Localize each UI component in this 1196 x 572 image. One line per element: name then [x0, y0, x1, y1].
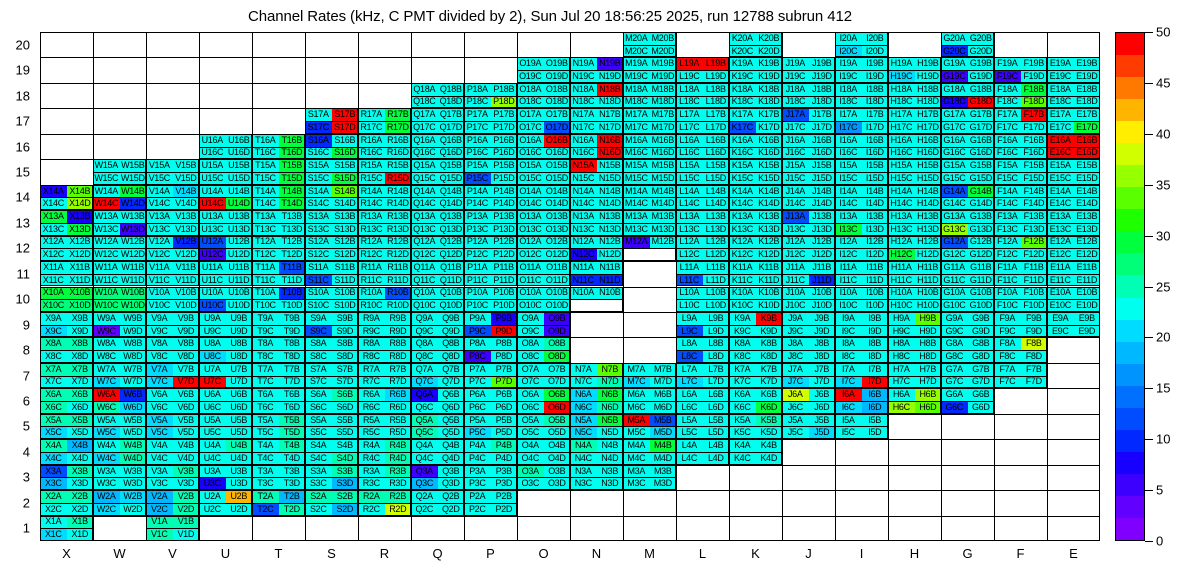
- palette-tick-35: [1145, 185, 1153, 186]
- x-axis-label-E: E: [1054, 546, 1094, 561]
- palette-band-15: [1116, 187, 1144, 210]
- x-axis-label-N: N: [577, 546, 617, 561]
- x-axis-label-I: I: [842, 546, 882, 561]
- palette-band-14: [1116, 209, 1144, 232]
- x-axis-label-R: R: [365, 546, 405, 561]
- x-axis-label-M: M: [630, 546, 670, 561]
- x-axis-label-F: F: [1001, 546, 1041, 561]
- palette-band-9: [1116, 319, 1144, 342]
- x-axis-label-P: P: [471, 546, 511, 561]
- palette-label-10: 10: [1156, 432, 1170, 447]
- palette-label-25: 25: [1156, 279, 1170, 294]
- x-axis-label-W: W: [100, 546, 140, 561]
- y-axis-label-3: 3: [4, 470, 30, 485]
- palette-tick-45: [1145, 83, 1153, 84]
- palette-band-20: [1116, 77, 1144, 100]
- y-axis-label-9: 9: [4, 317, 30, 332]
- y-axis-label-13: 13: [4, 215, 30, 230]
- y-axis-label-17: 17: [4, 114, 30, 129]
- y-axis-label-8: 8: [4, 343, 30, 358]
- palette-band-12: [1116, 253, 1144, 276]
- y-axis-label-19: 19: [4, 63, 30, 78]
- palette-tick-10: [1145, 439, 1153, 440]
- y-axis-label-2: 2: [4, 495, 30, 510]
- x-axis-label-Q: Q: [418, 546, 458, 561]
- y-axis-label-15: 15: [4, 164, 30, 179]
- palette-label-50: 50: [1156, 25, 1170, 40]
- palette-label-15: 15: [1156, 381, 1170, 396]
- palette-label-45: 45: [1156, 75, 1170, 90]
- palette-band-3: [1116, 451, 1144, 474]
- y-axis-label-4: 4: [4, 444, 30, 459]
- x-axis-label-V: V: [153, 546, 193, 561]
- palette-label-20: 20: [1156, 330, 1170, 345]
- x-axis-label-X: X: [47, 546, 87, 561]
- palette-tick-40: [1145, 134, 1153, 135]
- palette-band-2: [1116, 473, 1144, 496]
- palette-band-5: [1116, 407, 1144, 430]
- y-axis-label-1: 1: [4, 521, 30, 536]
- y-axis-label-6: 6: [4, 394, 30, 409]
- y-axis-label-20: 20: [4, 37, 30, 52]
- y-axis-label-14: 14: [4, 190, 30, 205]
- y-axis-label-5: 5: [4, 419, 30, 434]
- palette-band-19: [1116, 99, 1144, 122]
- palette-label-30: 30: [1156, 228, 1170, 243]
- y-axis-label-10: 10: [4, 292, 30, 307]
- palette-band-6: [1116, 385, 1144, 408]
- y-axis-label-16: 16: [4, 139, 30, 154]
- x-axis-label-S: S: [312, 546, 352, 561]
- palette-band-1: [1116, 495, 1144, 518]
- palette-band-13: [1116, 231, 1144, 254]
- palette-band-8: [1116, 341, 1144, 364]
- x-axis-label-H: H: [895, 546, 935, 561]
- color-scale-bar: [1115, 32, 1145, 541]
- palette-band-0: [1116, 517, 1144, 540]
- palette-label-5: 5: [1156, 483, 1163, 498]
- palette-band-11: [1116, 275, 1144, 298]
- palette-tick-50: [1145, 32, 1153, 33]
- palette-band-10: [1116, 297, 1144, 320]
- palette-tick-20: [1145, 337, 1153, 338]
- palette-band-16: [1116, 165, 1144, 188]
- palette-label-40: 40: [1156, 126, 1170, 141]
- x-axis-label-K: K: [736, 546, 776, 561]
- palette-tick-25: [1145, 287, 1153, 288]
- palette-band-7: [1116, 363, 1144, 386]
- page-title: Channel Rates (kHz, C PMT divided by 2),…: [0, 8, 1100, 25]
- palette-tick-15: [1145, 388, 1153, 389]
- y-axis-label-12: 12: [4, 241, 30, 256]
- palette-band-4: [1116, 429, 1144, 452]
- x-axis-label-U: U: [206, 546, 246, 561]
- channel-rate-heatmap: X1AX1BX1CX1DV1AV1BV1CV1DX2AX2BX2CX2DW2AW…: [40, 32, 1100, 541]
- palette-tick-30: [1145, 236, 1153, 237]
- x-axis-label-O: O: [524, 546, 564, 561]
- palette-tick-5: [1145, 490, 1153, 491]
- palette-band-22: [1116, 33, 1144, 56]
- palette-band-21: [1116, 55, 1144, 78]
- palette-tick-0: [1145, 541, 1153, 542]
- y-axis-label-11: 11: [4, 266, 30, 281]
- palette-label-0: 0: [1156, 534, 1163, 549]
- y-axis-label-7: 7: [4, 368, 30, 383]
- plot-frame: [40, 32, 1100, 541]
- x-axis-label-J: J: [789, 546, 829, 561]
- palette-band-18: [1116, 121, 1144, 144]
- palette-band-17: [1116, 143, 1144, 166]
- palette-label-35: 35: [1156, 177, 1170, 192]
- x-axis-label-T: T: [259, 546, 299, 561]
- x-axis-label-L: L: [683, 546, 723, 561]
- y-axis-label-18: 18: [4, 88, 30, 103]
- x-axis-label-G: G: [948, 546, 988, 561]
